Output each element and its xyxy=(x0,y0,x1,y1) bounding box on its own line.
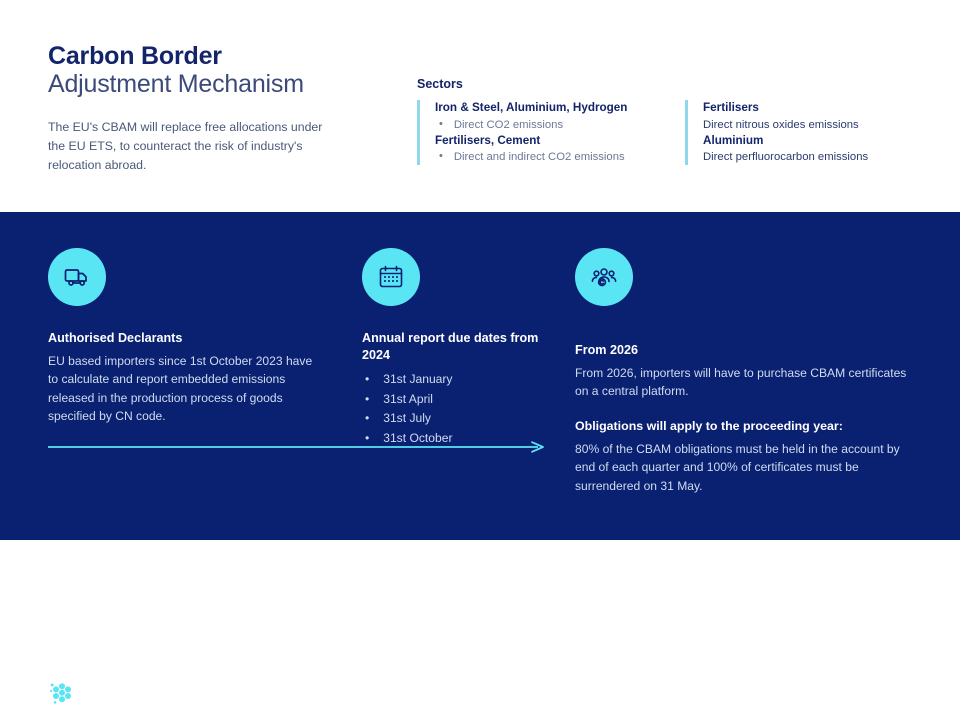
calendar-icon xyxy=(362,248,420,306)
column-body: From 2026, importers will have to purcha… xyxy=(575,364,910,401)
bullet-dot-icon: • xyxy=(439,117,443,133)
header-section: Carbon Border Adjustment Mechanism The E… xyxy=(0,0,960,212)
list-item-label: 31st July xyxy=(383,409,431,429)
sector-group-sub: Direct perfluorocarbon emissions xyxy=(703,149,933,165)
sector-group-head: Fertilisers, Cement xyxy=(435,133,685,150)
bullet-dot-icon: • xyxy=(365,390,369,410)
list-item: • 31st July xyxy=(362,409,562,429)
list-item-label: 31st January xyxy=(383,370,452,390)
bullet-dot-icon: • xyxy=(439,149,443,165)
sector-group-head: Fertilisers xyxy=(703,100,933,117)
column-body-secondary: 80% of the CBAM obligations must be held… xyxy=(575,440,910,495)
sectors-right-column: Fertilisers Direct nitrous oxides emissi… xyxy=(685,100,933,165)
sector-group-sub: Direct nitrous oxides emissions xyxy=(703,117,933,133)
column-body: EU based importers since 1st October 202… xyxy=(48,352,318,426)
sector-group-bullet: • Direct and indirect CO2 emissions xyxy=(435,149,685,165)
column-heading: Authorised Declarants xyxy=(48,330,318,347)
title-line-1: Carbon Border xyxy=(48,42,378,70)
slide: Carbon Border Adjustment Mechanism The E… xyxy=(0,0,960,540)
sector-group-head: Iron & Steel, Aluminium, Hydrogen xyxy=(435,100,685,117)
column-annual-report-dates: Annual report due dates from 2024 • 31st… xyxy=(362,248,562,448)
column-heading: Annual report due dates from 2024 xyxy=(362,330,562,364)
list-item: • 31st April xyxy=(362,390,562,410)
sector-group-head: Aluminium xyxy=(703,133,933,150)
timeline-arrow-icon xyxy=(48,440,546,454)
column-authorised-declarants: Authorised Declarants EU based importers… xyxy=(48,248,318,426)
sectors-heading: Sectors xyxy=(417,77,463,91)
logo-mark xyxy=(48,678,76,711)
title-line-2: Adjustment Mechanism xyxy=(48,70,378,98)
page-title: Carbon Border Adjustment Mechanism xyxy=(48,42,378,98)
column-from-2026: From 2026 From 2026, importers will have… xyxy=(575,248,910,495)
bullet-dot-icon: • xyxy=(365,370,369,390)
column-heading: From 2026 xyxy=(575,342,910,359)
sector-bullet-text: Direct CO2 emissions xyxy=(454,117,563,133)
sector-group-bullet: • Direct CO2 emissions xyxy=(435,117,685,133)
due-dates-list: • 31st January • 31st April • 31st July … xyxy=(362,370,562,448)
sectors-left-column: Iron & Steel, Aluminium, Hydrogen • Dire… xyxy=(417,100,685,165)
sector-bullet-text: Direct and indirect CO2 emissions xyxy=(454,149,625,165)
list-item-label: 31st April xyxy=(383,390,433,410)
bullet-dot-icon: • xyxy=(365,409,369,429)
truck-icon xyxy=(48,248,106,306)
timeline-section: Authorised Declarants EU based importers… xyxy=(0,212,960,540)
intro-paragraph: The EU's CBAM will replace free allocati… xyxy=(48,118,338,175)
column-subheading: Obligations will apply to the proceeding… xyxy=(575,418,910,435)
list-item: • 31st January xyxy=(362,370,562,390)
group-certificate-icon xyxy=(575,248,633,306)
